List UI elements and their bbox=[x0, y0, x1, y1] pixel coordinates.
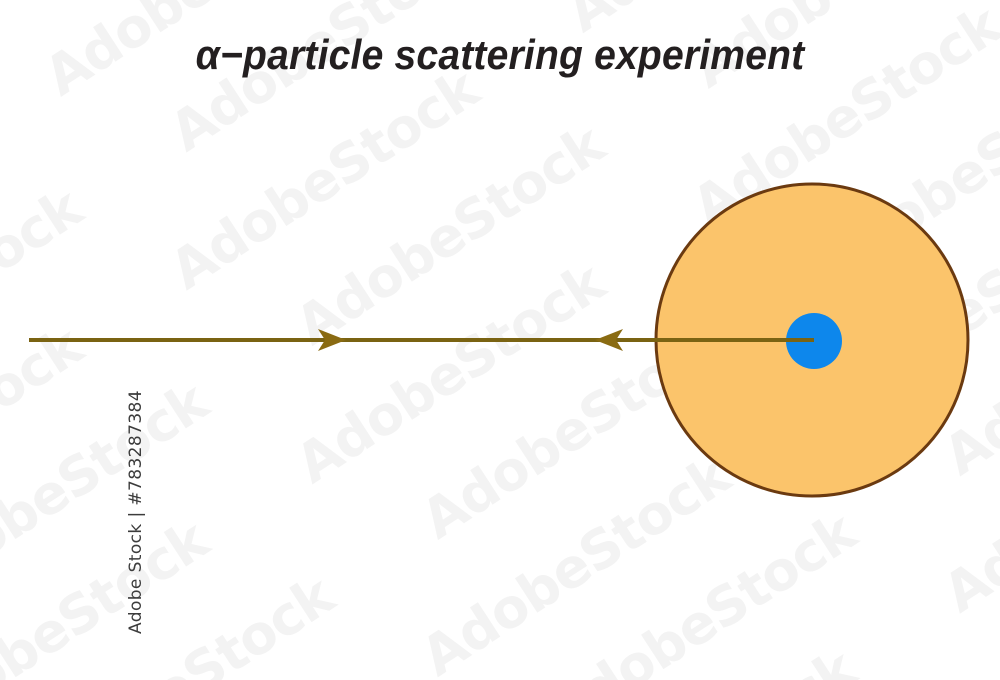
stock-credit: Adobe Stock | #783287384 bbox=[14, 362, 258, 662]
page-title: α−particle scattering experiment bbox=[35, 29, 965, 81]
illustration-canvas: AdobeStockAdobeStockAdobeStockAdobeStock… bbox=[0, 0, 1000, 680]
stock-credit-text: Adobe Stock | #783287384 bbox=[126, 390, 146, 634]
